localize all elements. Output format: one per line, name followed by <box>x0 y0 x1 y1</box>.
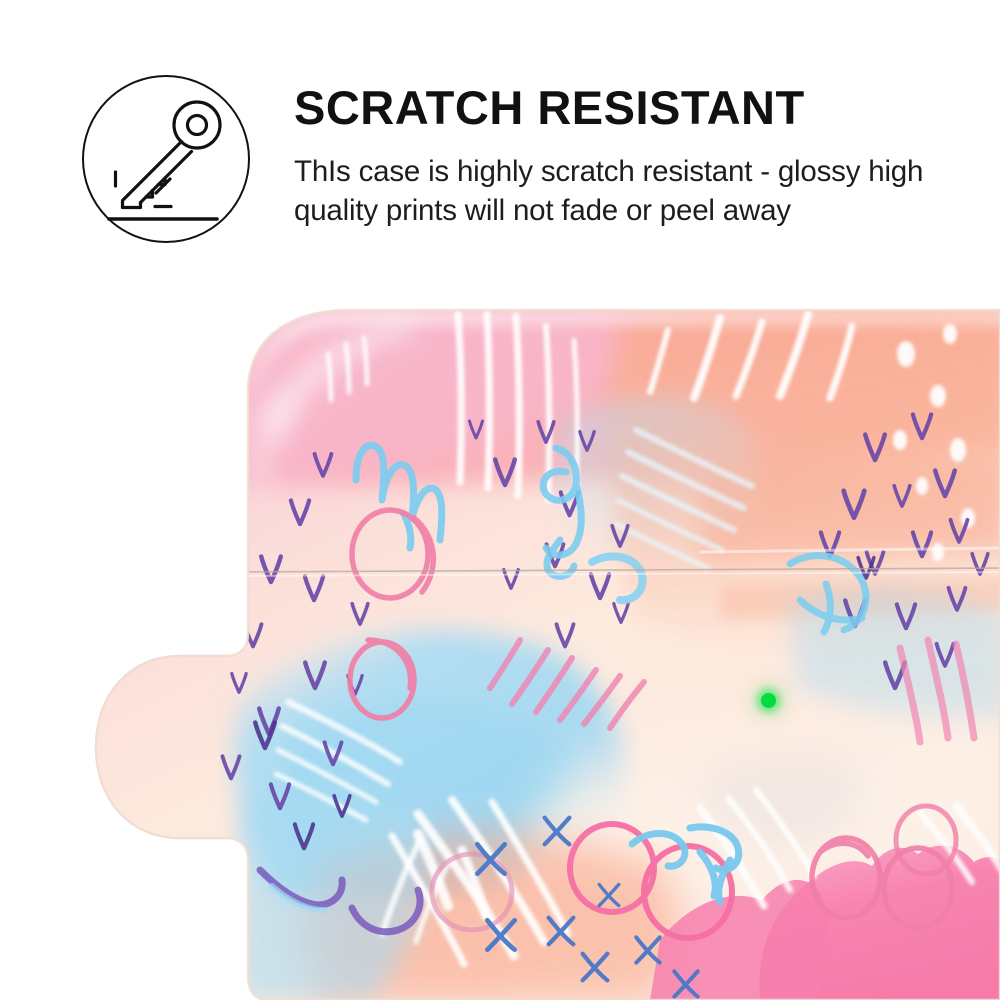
product-feature-page: SCRATCH RESISTANT ThIs case is highly sc… <box>0 0 1000 1000</box>
feature-description: ThIs case is highly scratch resistant - … <box>294 131 939 230</box>
key-icon-glyph <box>84 77 252 245</box>
earbuds-charging-case-illustration <box>0 300 1000 1000</box>
product-photo <box>0 300 1000 1000</box>
key-scratching-surface-icon <box>82 75 250 243</box>
feature-headline: SCRATCH RESISTANT <box>294 84 954 131</box>
case-body <box>90 300 1000 1000</box>
charging-status-led <box>761 693 776 708</box>
feature-header: SCRATCH RESISTANT ThIs case is highly sc… <box>0 0 1000 300</box>
feature-text-block: SCRATCH RESISTANT ThIs case is highly sc… <box>294 84 954 230</box>
